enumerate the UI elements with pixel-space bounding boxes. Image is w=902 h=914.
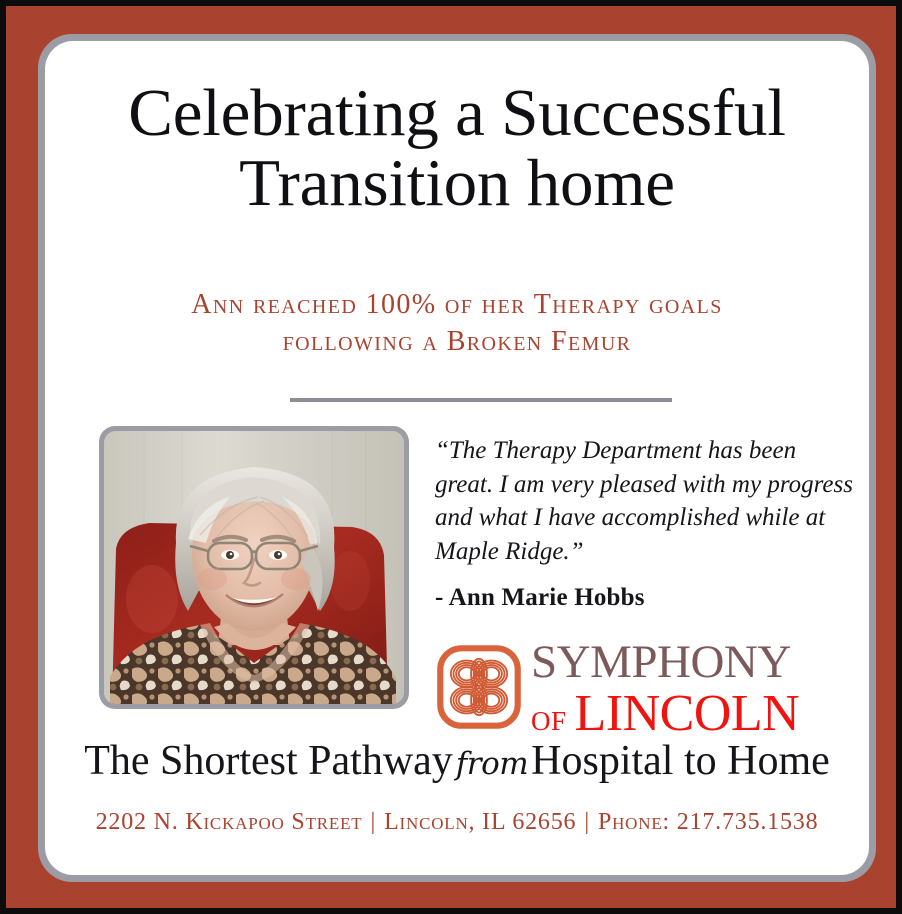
subheading: Ann reached 100% of her Therapy goals fo… <box>45 287 869 361</box>
phone-number: 217.735.1538 <box>677 809 819 835</box>
advertisement-frame: Celebrating a Successful Transition home… <box>0 0 902 914</box>
address-separator-2: | <box>576 809 598 835</box>
interlocking-circles-icon <box>435 643 523 731</box>
horizontal-divider <box>290 398 672 402</box>
resident-photo-frame <box>99 426 409 709</box>
symphony-logo-mark-icon <box>435 643 523 731</box>
logo-lincoln-text: LINCOLN <box>575 685 800 742</box>
address-separator-1: | <box>362 809 384 835</box>
address-city-state-zip: Lincoln, IL 62656 <box>384 809 576 835</box>
logo-wordmark: SYMPHONY OFLINCOLN <box>531 639 861 740</box>
phone-label: Phone: <box>598 809 670 835</box>
testimonial-attribution: - Ann Marie Hobbs <box>435 584 855 612</box>
card-border: Celebrating a Successful Transition home… <box>38 34 876 882</box>
logo-second-line: OFLINCOLN <box>531 688 861 740</box>
tagline-part-2: Hospital to Home <box>531 738 830 784</box>
testimonial-quote: “The Therapy Department has been great. … <box>435 434 855 568</box>
advertisement-card: Celebrating a Successful Transition home… <box>45 41 869 875</box>
resident-photo <box>104 431 404 704</box>
portrait-illustration <box>104 431 404 704</box>
tagline-part-1: The Shortest Pathway <box>84 738 453 784</box>
page-title: Celebrating a Successful Transition home <box>45 79 869 218</box>
logo-symphony-text: SYMPHONY <box>531 639 861 686</box>
tagline-script-from: from <box>453 746 531 782</box>
testimonial-block: “The Therapy Department has been great. … <box>435 434 855 612</box>
tagline: The Shortest PathwayfromHospital to Home <box>45 738 869 784</box>
subheading-line-2: following a Broken Femur <box>45 324 869 361</box>
headline-line-2: Transition home <box>45 149 869 219</box>
address-street: 2202 N. Kickapoo Street <box>96 809 363 835</box>
logo-of-text: OF <box>531 706 567 736</box>
symphony-of-lincoln-logo: SYMPHONY OFLINCOLN <box>435 639 855 735</box>
headline-line-1: Celebrating a Successful <box>128 76 786 150</box>
subheading-line-1: Ann reached 100% of her Therapy goals <box>191 289 723 320</box>
content-row: “The Therapy Department has been great. … <box>45 426 869 726</box>
contact-line: 2202 N. Kickapoo Street|Lincoln, IL 6265… <box>45 809 869 836</box>
